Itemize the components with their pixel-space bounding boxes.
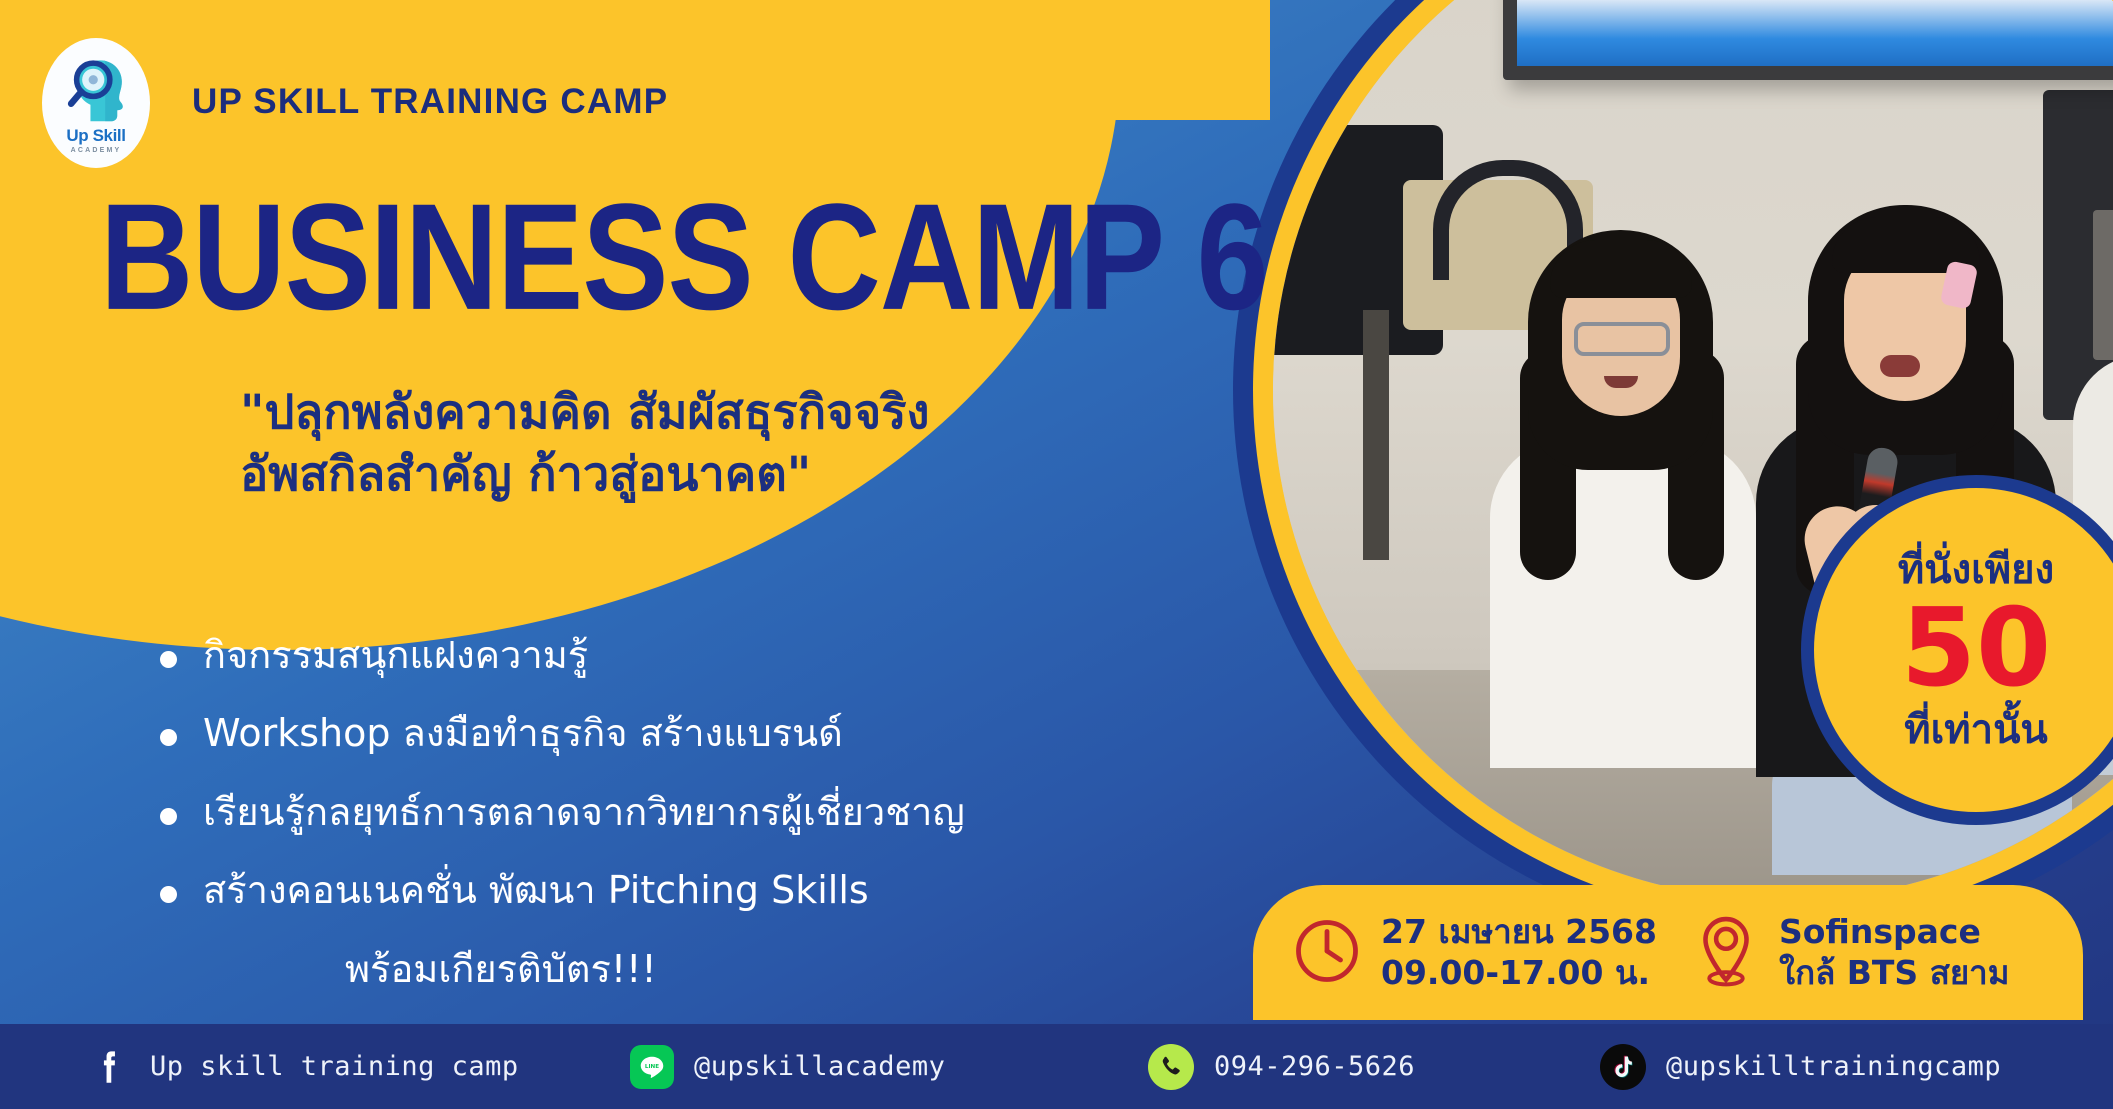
social-facebook-label: Up skill training camp: [150, 1051, 519, 1082]
bullet-dot-icon: [160, 886, 177, 903]
event-venue-lines: Sofinspace ใกล้ BTS สยาม: [1779, 912, 2009, 993]
event-date: 27 เมษายน 2568: [1381, 912, 1657, 952]
certificate-note: พร้อมเกียรติบัตร!!!: [345, 938, 657, 999]
line-icon: LINE: [630, 1045, 674, 1089]
social-tiktok[interactable]: @upskilltrainingcamp: [1600, 1044, 2001, 1090]
event-time: 09.00-17.00 น.: [1381, 953, 1657, 993]
phone-icon: [1148, 1044, 1194, 1090]
social-facebook[interactable]: Up skill training camp: [88, 1046, 519, 1088]
event-datetime-lines: 27 เมษายน 2568 09.00-17.00 น.: [1381, 912, 1657, 993]
event-datetime: 27 เมษายน 2568 09.00-17.00 น.: [1291, 912, 1657, 993]
bullet-dot-icon: [160, 729, 177, 746]
list-item-label: สร้างคอนเนคชั่น พัฒนา Pitching Skills: [203, 865, 869, 916]
page-title: BUSINESS CAMP 6: [100, 170, 1267, 344]
social-line[interactable]: LINE @upskillacademy: [630, 1045, 945, 1089]
list-item: สร้างคอนเนคชั่น พัฒนา Pitching Skills: [160, 865, 1210, 916]
list-item-label: Workshop ลงมือทำธุรกิจ สร้างแบรนด์: [203, 708, 843, 759]
logo-wordmark: Up Skill: [66, 126, 125, 146]
venue-name: Sofinspace: [1779, 912, 2009, 952]
list-item-label: กิจกรรมสนุกแฝงความรู้: [203, 630, 588, 681]
contact-phone[interactable]: 094-296-5626: [1148, 1044, 1415, 1090]
tagline-line-1: "ปลุกพลังความคิด สัมผัสธุรกิจจริง: [240, 382, 929, 444]
seats-badge-top-label: ที่นั่งเพียง: [1898, 549, 2054, 591]
event-info-bar: 27 เมษายน 2568 09.00-17.00 น. Sofinspace…: [1253, 885, 2083, 1020]
tagline-line-2: อัพสกิลสำคัญ ก้าวสู่อนาคต": [240, 444, 929, 506]
map-pin-icon: [1691, 913, 1761, 993]
brand-header: UP SKILL TRAINING CAMP: [192, 82, 668, 122]
bullet-dot-icon: [160, 808, 177, 825]
tiktok-icon: [1600, 1044, 1646, 1090]
photo-presentation-screen: Business: [1503, 0, 2113, 80]
seats-badge-number: 50: [1901, 595, 2051, 703]
venue-note: ใกล้ BTS สยาม: [1779, 953, 2009, 993]
facebook-icon: [88, 1046, 130, 1088]
contact-phone-label: 094-296-5626: [1214, 1051, 1415, 1082]
logo-subtitle: ACADEMY: [71, 147, 122, 154]
event-venue: Sofinspace ใกล้ BTS สยาม: [1691, 912, 2009, 993]
photo-shelf: [1363, 310, 1389, 560]
photo-cabinet-lower: [2093, 210, 2113, 360]
social-footer: Up skill training camp LINE @upskillacad…: [0, 1024, 2113, 1109]
bullet-dot-icon: [160, 651, 177, 668]
feature-list: กิจกรรมสนุกแฝงความรู้ Workshop ลงมือทำธุ…: [160, 630, 1210, 943]
promo-poster: Business ที่นั่งเพียง 50 ที่เท่านั้น: [0, 0, 2113, 1109]
seats-badge-bottom-label: ที่เท่านั้น: [1904, 709, 2048, 751]
tagline: "ปลุกพลังความคิด สัมผัสธุรกิจจริง อัพสกิ…: [240, 382, 929, 506]
svg-text:LINE: LINE: [645, 1063, 659, 1069]
list-item: Workshop ลงมือทำธุรกิจ สร้างแบรนด์: [160, 708, 1210, 759]
clock-icon: [1291, 915, 1363, 991]
social-tiktok-label: @upskilltrainingcamp: [1666, 1051, 2001, 1082]
list-item: กิจกรรมสนุกแฝงความรู้: [160, 630, 1210, 681]
head-magnifier-icon: [59, 53, 133, 125]
social-line-label: @upskillacademy: [694, 1051, 945, 1082]
list-item: เรียนรู้กลยุทธ์การตลาดจากวิทยากรผู้เชี่ย…: [160, 787, 1210, 838]
list-item-label: เรียนรู้กลยุทธ์การตลาดจากวิทยากรผู้เชี่ย…: [203, 787, 965, 838]
brand-logo: Up Skill ACADEMY: [42, 38, 150, 168]
